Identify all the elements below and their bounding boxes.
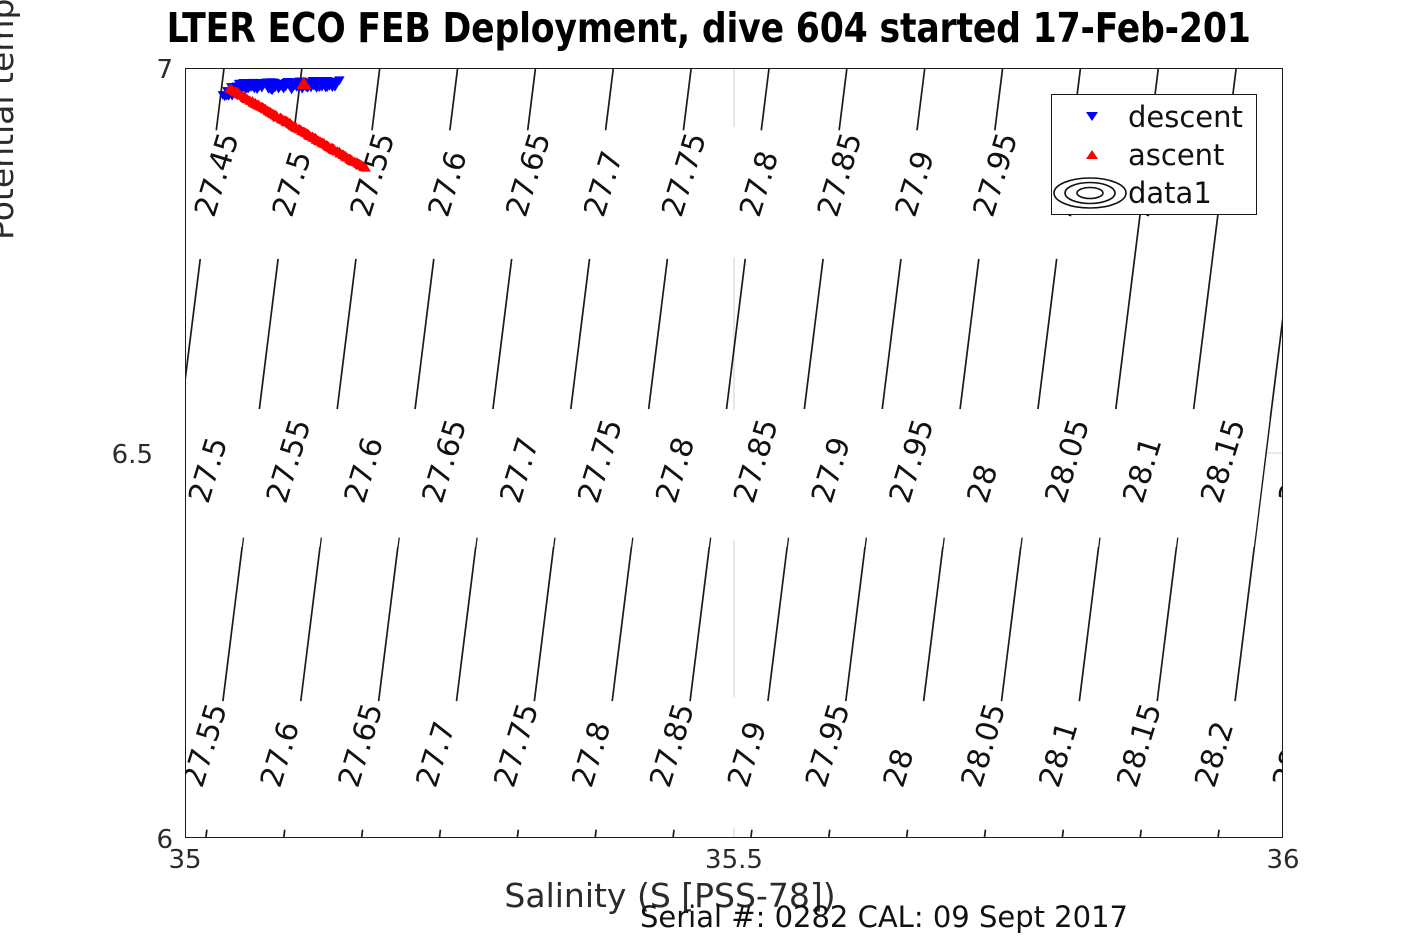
ytick-label-6-5: 6.5	[93, 440, 153, 470]
legend-marker-descent	[1052, 98, 1128, 136]
legend-item-ascent[interactable]: ascent	[1052, 136, 1256, 174]
y-axis-label: Potential temperature σ0 (°C)	[0, 0, 27, 240]
legend-item-data1[interactable]: data1	[1052, 174, 1256, 212]
legend-marker-ascent	[1052, 136, 1128, 174]
legend-item-descent[interactable]: descent	[1052, 98, 1256, 136]
xtick-label-35-5: 35.5	[694, 845, 774, 875]
legend-label-descent: descent	[1128, 98, 1243, 136]
ytick-label-7: 7	[113, 55, 173, 85]
legend-label-ascent: ascent	[1128, 136, 1224, 174]
page-title-text: LTER ECO FEB Deployment, dive 604 starte…	[166, 2, 1250, 54]
figure-root: LTER ECO FEB Deployment, dive 604 starte…	[0, 0, 1417, 945]
contour-icon	[1052, 176, 1128, 210]
xtick-label-35: 35	[145, 845, 225, 875]
legend-label-data1: data1	[1128, 174, 1212, 212]
legend[interactable]: descent ascent data1	[1051, 94, 1257, 215]
triangle-down-icon	[1086, 112, 1098, 121]
y-axis-label-prefix: Potential temperature	[0, 0, 21, 240]
page-title: LTER ECO FEB Deployment, dive 604 starte…	[0, 2, 1417, 54]
serial-calibration-footer: Serial #: 0282 CAL: 09 Sept 2017	[640, 900, 1380, 934]
triangle-up-icon	[1086, 150, 1098, 159]
legend-marker-data1	[1052, 174, 1128, 212]
xtick-label-36: 36	[1243, 845, 1323, 875]
contour-label: 28.2	[1272, 433, 1282, 507]
